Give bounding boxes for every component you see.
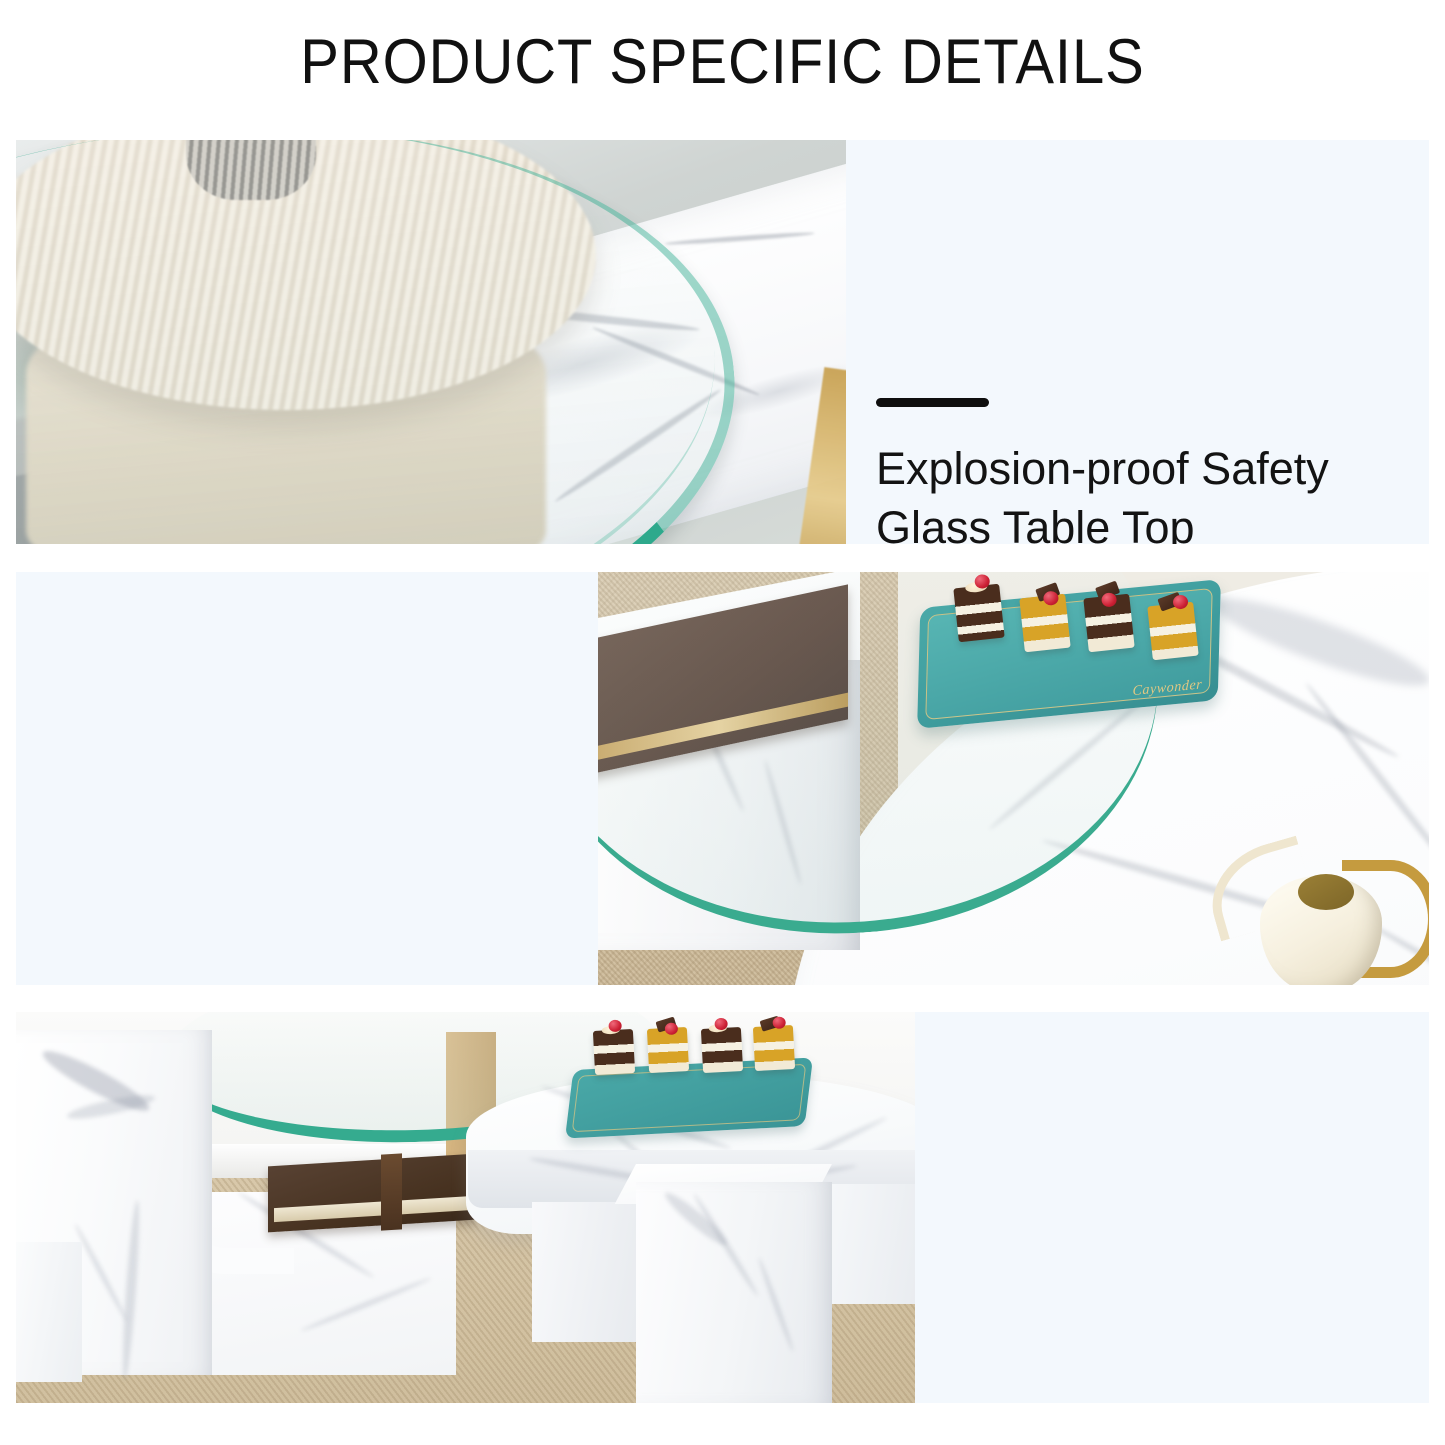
cake-slice bbox=[753, 1025, 795, 1071]
feature-panel-3: Multiple Collocation Free Change bbox=[16, 1012, 1429, 1403]
cake-slice bbox=[1019, 594, 1070, 653]
feature-3-photo bbox=[16, 1012, 915, 1403]
feature-1-text: Explosion-proof Safety Glass Table Top bbox=[876, 440, 1416, 544]
cake-slice bbox=[1147, 602, 1198, 661]
product-detail-infographic: PRODUCT SPECIFIC DETAILS Explosi bbox=[0, 0, 1445, 1445]
feature-2-photo: Caywonder bbox=[598, 572, 1429, 985]
cake-slice bbox=[953, 584, 1004, 643]
feature-1-photo bbox=[16, 140, 846, 544]
table-leg-right bbox=[824, 1184, 915, 1304]
watering-can bbox=[1238, 842, 1410, 985]
side-table-edge bbox=[16, 1242, 82, 1382]
cake-slice bbox=[593, 1029, 635, 1075]
feature-panel-1: Explosion-proof Safety Glass Table Top bbox=[16, 140, 1429, 544]
table-leg-rear bbox=[532, 1202, 642, 1342]
feature-panel-2: Quality MDF Board Stable & Durable bbox=[16, 572, 1429, 985]
feature-1-caption: Explosion-proof Safety Glass Table Top bbox=[876, 398, 1416, 544]
cake-slice bbox=[701, 1027, 743, 1073]
page-title: PRODUCT SPECIFIC DETAILS bbox=[58, 26, 1387, 98]
journal-strap bbox=[381, 1153, 402, 1230]
table-leg-front bbox=[636, 1182, 832, 1403]
feature-1-rule bbox=[876, 398, 989, 407]
cake-slice bbox=[1083, 594, 1134, 653]
cake-slice bbox=[647, 1027, 689, 1073]
